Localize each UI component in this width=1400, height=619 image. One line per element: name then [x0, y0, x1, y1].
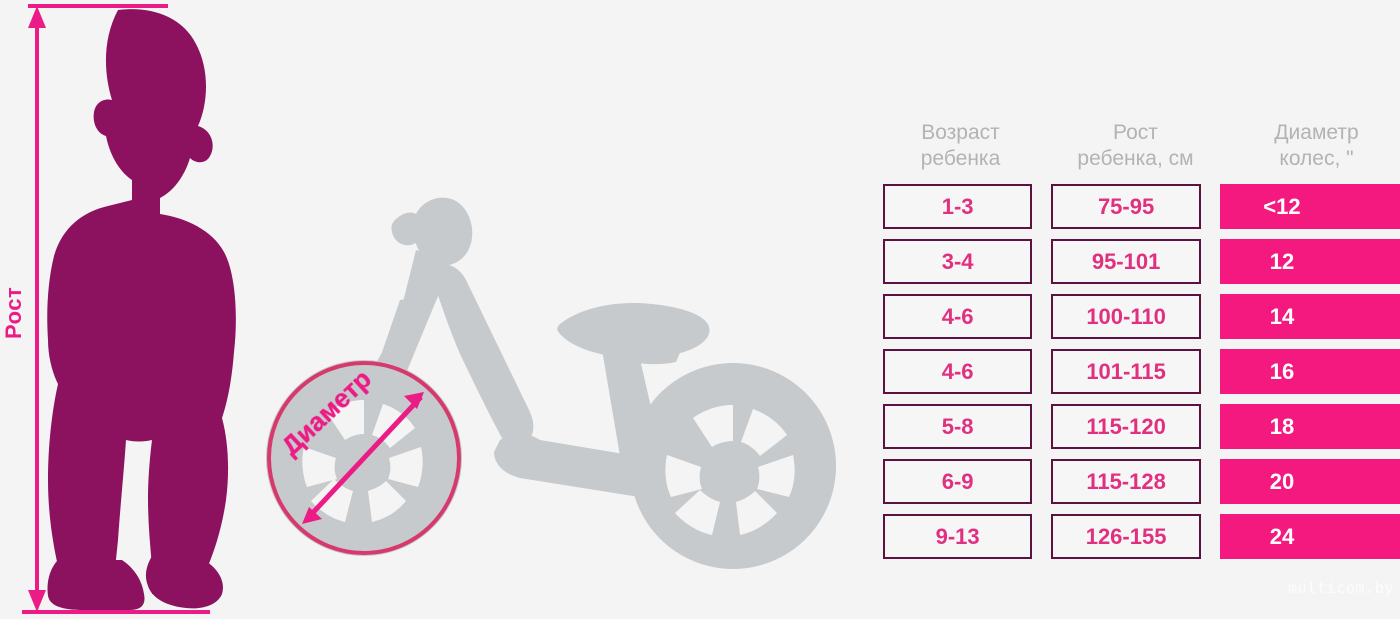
cell-gap: [1201, 239, 1220, 284]
cell-gap: [1032, 349, 1051, 394]
size-chart-table: Возраст ребенка Рост ребенка, см Диаметр…: [883, 112, 1400, 569]
column-header-age-line2: ребенка: [883, 146, 1038, 172]
cell-gap: [1032, 459, 1051, 504]
column-header-height-line2: ребенка, см: [1058, 146, 1213, 172]
cell-wheel-diameter: 24: [1220, 514, 1400, 559]
cell-height: 115-120: [1051, 404, 1200, 449]
cell-age: 5-8: [883, 404, 1032, 449]
cell-gap: [1201, 349, 1220, 394]
cell-age: 4-6: [883, 349, 1032, 394]
table-body: 1-375-95<123-495-101124-6100-110144-6101…: [883, 184, 1400, 569]
cell-gap: [1201, 514, 1220, 559]
column-header-age-line1: Возраст: [883, 120, 1038, 146]
cell-age: 6-9: [883, 459, 1032, 504]
cell-wheel-diameter: 16: [1220, 349, 1400, 394]
cell-height: 75-95: [1051, 184, 1200, 229]
cell-height: 126-155: [1051, 514, 1200, 559]
cell-wheel-diameter: 14: [1220, 294, 1400, 339]
column-header-age: Возраст ребенка: [883, 112, 1038, 184]
height-arrow: [28, 6, 46, 612]
cell-gap: [1032, 514, 1051, 559]
cell-gap: [1032, 239, 1051, 284]
column-header-height: Рост ребенка, см: [1058, 112, 1213, 184]
table-row: 6-9115-12820: [883, 459, 1400, 514]
cell-gap: [1032, 404, 1051, 449]
cell-gap: [1032, 184, 1051, 229]
illustration-area: [0, 0, 860, 619]
cell-height: 101-115: [1051, 349, 1200, 394]
cell-wheel-diameter: 12: [1220, 239, 1400, 284]
column-header-wheel: Диаметр колес, ": [1233, 112, 1400, 184]
rear-wheel: [630, 363, 836, 569]
table-row: 3-495-10112: [883, 239, 1400, 294]
column-header-height-line1: Рост: [1058, 120, 1213, 146]
table-row: 5-8115-12018: [883, 404, 1400, 459]
cell-gap: [1201, 459, 1220, 504]
header-spacer-1: [1038, 112, 1058, 184]
cell-wheel-diameter: 20: [1220, 459, 1400, 504]
cell-age: 4-6: [883, 294, 1032, 339]
height-axis-label: Рост: [2, 268, 26, 358]
cell-gap: [1032, 294, 1051, 339]
cell-height: 115-128: [1051, 459, 1200, 504]
cell-age: 9-13: [883, 514, 1032, 559]
table-row: 1-375-95<12: [883, 184, 1400, 239]
table-row: 9-13126-15524: [883, 514, 1400, 569]
cell-gap: [1201, 184, 1220, 229]
cell-gap: [1201, 294, 1220, 339]
table-header-row: Возраст ребенка Рост ребенка, см Диаметр…: [883, 112, 1400, 184]
cell-wheel-diameter: 18: [1220, 404, 1400, 449]
cell-height: 95-101: [1051, 239, 1200, 284]
cell-gap: [1201, 404, 1220, 449]
child-silhouette: [47, 9, 236, 610]
infographic-canvas: Рост Диаметр Возраст ребенка Рост ребенк…: [0, 0, 1400, 619]
cell-wheel-diameter: <12: [1220, 184, 1400, 229]
table-row: 4-6101-11516: [883, 349, 1400, 404]
column-header-wheel-line2: колес, ": [1233, 146, 1400, 172]
watermark: multicom.by: [1288, 579, 1394, 597]
cell-age: 1-3: [883, 184, 1032, 229]
header-spacer-2: [1213, 112, 1233, 184]
cell-height: 100-110: [1051, 294, 1200, 339]
column-header-wheel-line1: Диаметр: [1233, 120, 1400, 146]
cell-age: 3-4: [883, 239, 1032, 284]
table-row: 4-6100-11014: [883, 294, 1400, 349]
